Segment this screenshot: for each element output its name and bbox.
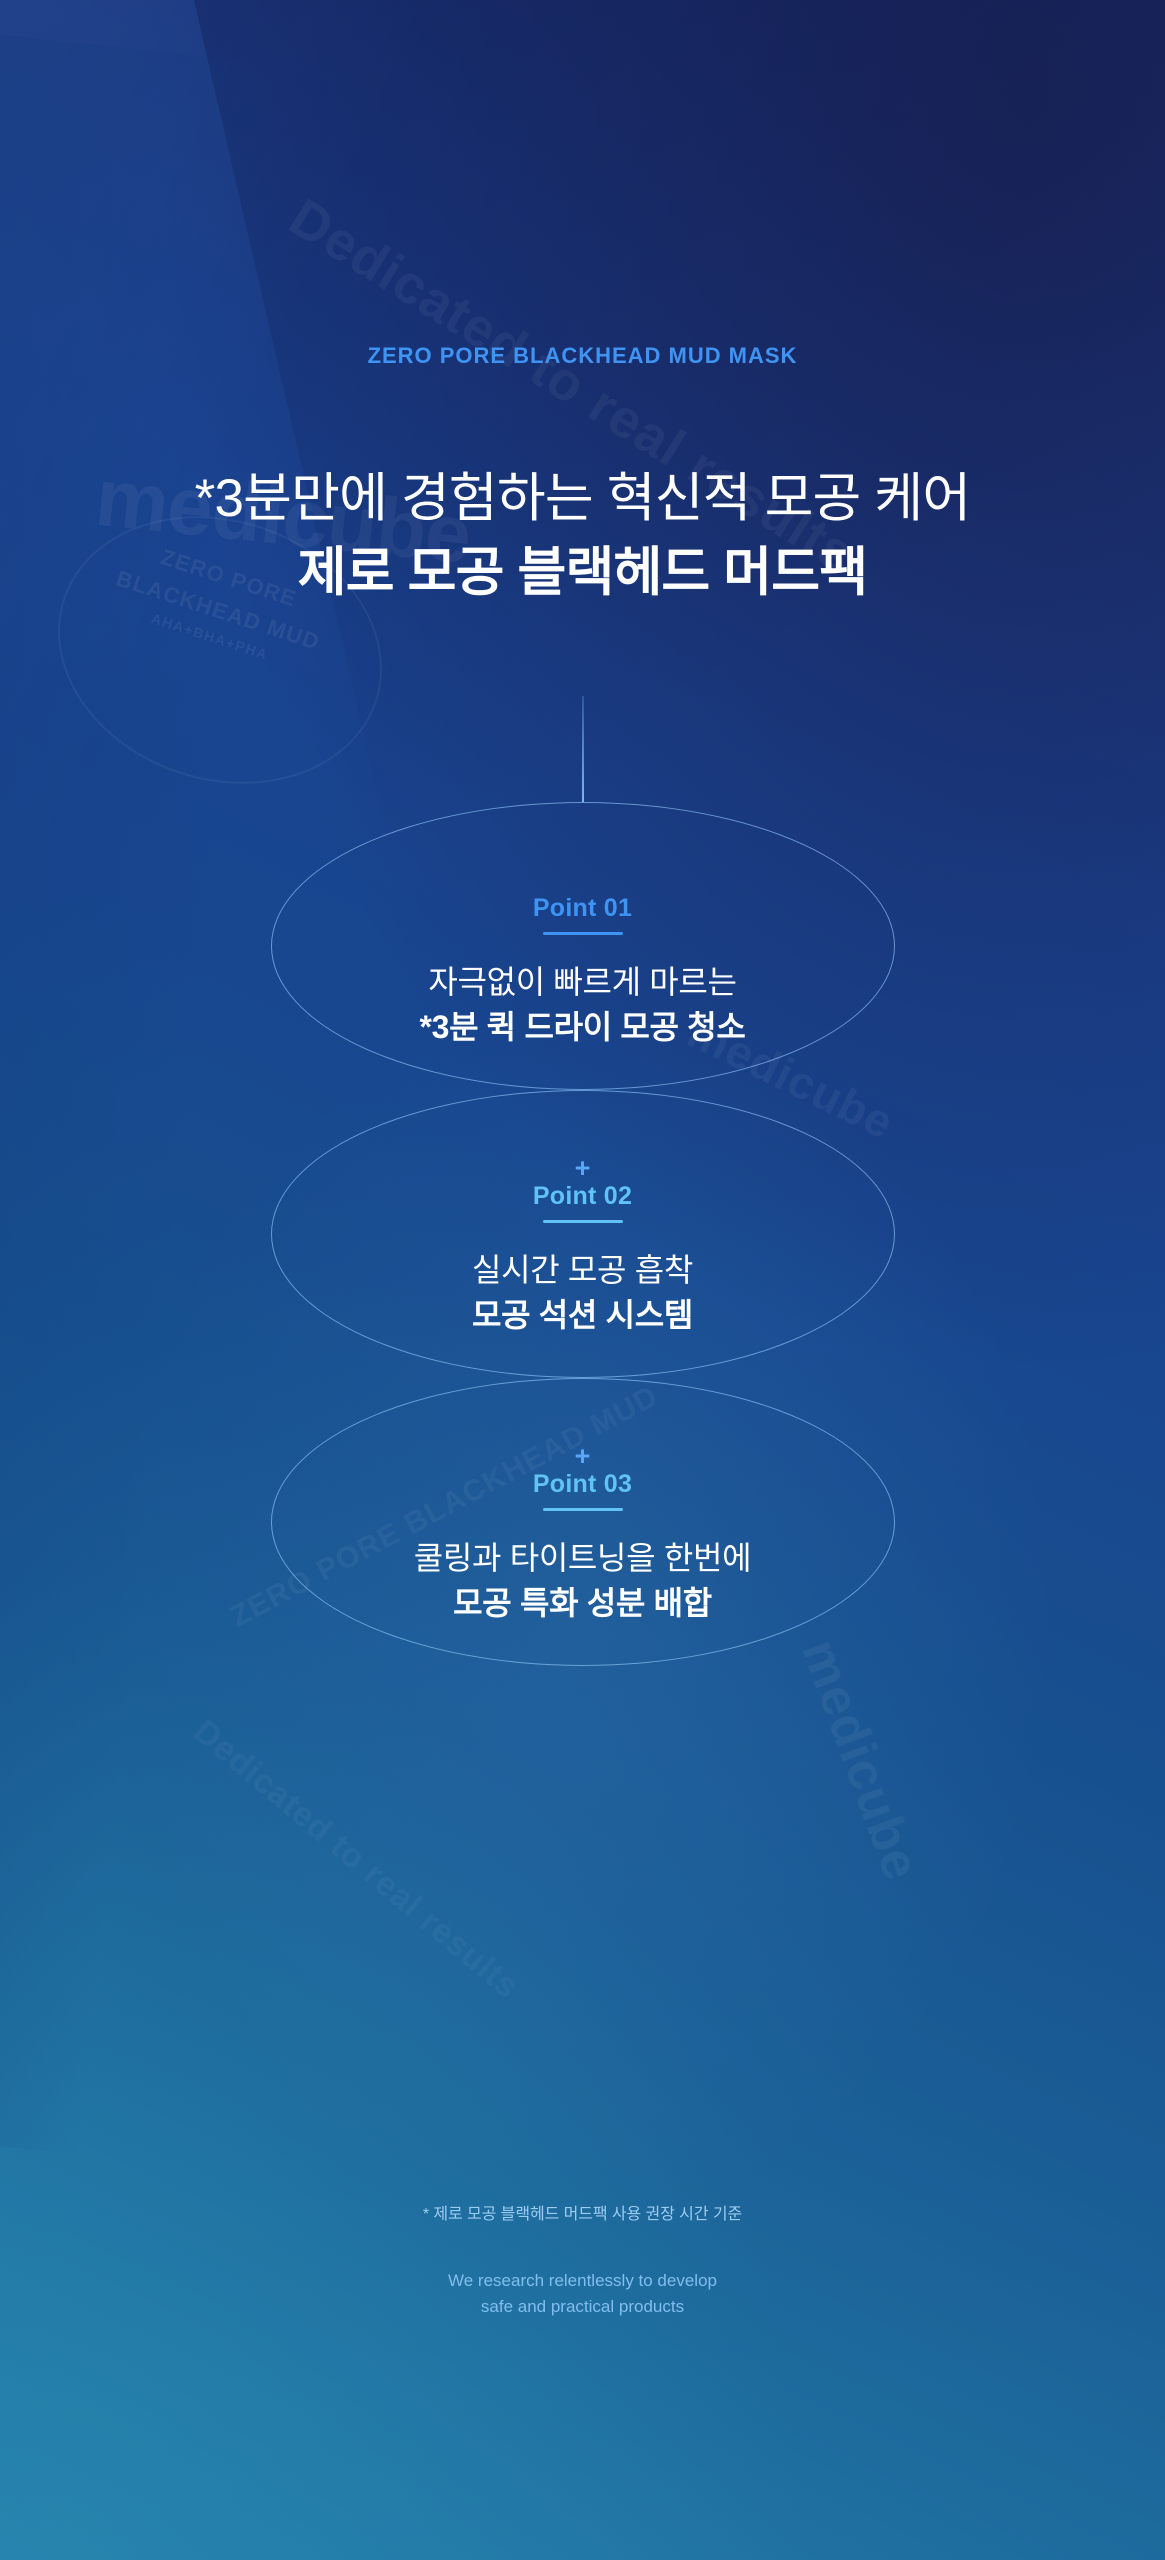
headline-line-1: *3분만에 경험하는 혁신적 모공 케어 (0, 456, 1165, 532)
point-desc-03-line-2: 모공 특화 성분 배합 (0, 1583, 1165, 1625)
plus-separator-2: + (0, 1443, 1165, 1470)
content-layer: ZERO PORE BLACKHEAD MUD MASK *3분만에 경험하는 … (0, 0, 1165, 2560)
point-desc-02-line-1: 실시간 모공 흡착 (0, 1250, 1165, 1292)
page-canvas: Dedicated to real results medicube ZERO … (0, 0, 1165, 2560)
point-rule-02 (543, 1220, 623, 1223)
point-label-02: Point 02 (0, 1181, 1165, 1212)
point-block-01: Point 01 자극없이 빠르게 마르는 *3분 퀵 드라이 모공 청소 (0, 893, 1165, 1048)
point-desc-02-line-2: 모공 석션 시스템 (0, 1295, 1165, 1337)
tagline-block: We research relentlessly to develop safe… (0, 2268, 1165, 2321)
tagline-line-1: We research relentlessly to develop (0, 2268, 1165, 2294)
point-label-03: Point 03 (0, 1469, 1165, 1500)
connector-line (582, 696, 584, 802)
point-rule-01 (543, 932, 623, 935)
point-block-03: Point 03 쿨링과 타이트닝을 한번에 모공 특화 성분 배합 (0, 1469, 1165, 1624)
point-desc-01-line-2: *3분 퀵 드라이 모공 청소 (0, 1007, 1165, 1049)
plus-separator-1: + (0, 1155, 1165, 1182)
point-block-02: Point 02 실시간 모공 흡착 모공 석션 시스템 (0, 1181, 1165, 1336)
footnote-text: * 제로 모공 블랙헤드 머드팩 사용 권장 시간 기준 (0, 2200, 1165, 2224)
headline-line-2: 제로 모공 블랙헤드 머드팩 (0, 530, 1165, 606)
eyebrow-title: ZERO PORE BLACKHEAD MUD MASK (0, 343, 1165, 369)
point-label-01: Point 01 (0, 893, 1165, 924)
tagline-line-2: safe and practical products (0, 2294, 1165, 2320)
point-rule-03 (543, 1508, 623, 1511)
point-desc-03-line-1: 쿨링과 타이트닝을 한번에 (0, 1538, 1165, 1580)
point-desc-01-line-1: 자극없이 빠르게 마르는 (0, 962, 1165, 1004)
